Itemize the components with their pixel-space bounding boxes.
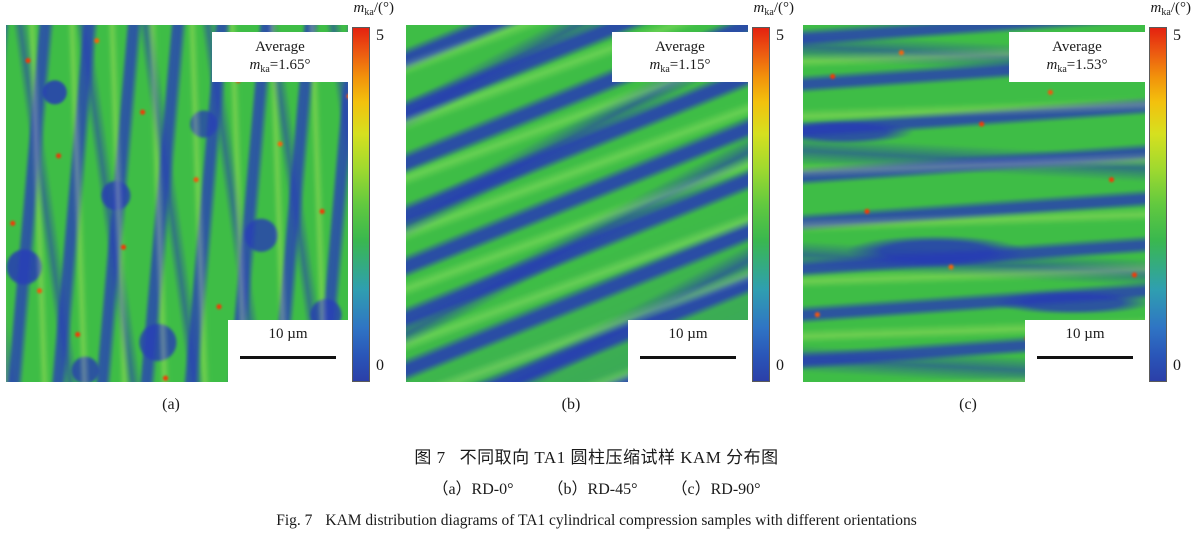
colorbar-title-symbol-c: m <box>1151 0 1162 16</box>
average-title-c: Average <box>1052 39 1102 57</box>
caption-english: Fig. 7KAM distribution diagrams of TA1 c… <box>0 512 1193 530</box>
colorbar-min-label-a: 0 <box>376 358 384 374</box>
scale-bar-box-c: 10 µm <box>1025 320 1145 382</box>
colorbar-max-label-b: 5 <box>776 28 784 44</box>
panel-a: mka/(°) Average mka=1.65° 10 µm 5 0 (a) <box>0 0 394 425</box>
scale-bar-label-b: 10 µm <box>628 326 748 343</box>
panel-label-c: (c) <box>797 396 1139 414</box>
colorbar-max-label-a: 5 <box>376 28 384 44</box>
caption-english-figno: Fig. 7 <box>276 512 312 529</box>
colorbar-title-c: mka/(°) <box>1151 0 1191 21</box>
scale-bar-line-a <box>240 356 336 359</box>
average-box-b: Average mka=1.15° <box>612 32 748 82</box>
scale-bar-box-b: 10 µm <box>628 320 748 382</box>
colorbar-title-symbol-b: m <box>754 0 765 16</box>
colorbar-title-symbol-a: m <box>354 0 365 16</box>
colorbar-title-sub-c: ka <box>1161 7 1170 18</box>
kam-map-c: Average mka=1.53° 10 µm <box>803 25 1145 382</box>
average-value-c: mka=1.53° <box>1046 57 1107 76</box>
caption-chinese-sub-c: （c）RD-90° <box>671 475 760 499</box>
colorbar-a <box>352 27 370 382</box>
scale-bar-line-b <box>640 356 736 359</box>
average-title-a: Average <box>255 39 305 57</box>
caption-chinese-figno: 图 7 <box>414 448 445 467</box>
colorbar-min-label-c: 0 <box>1173 358 1181 374</box>
average-title-b: Average <box>655 39 705 57</box>
scale-bar-line-c <box>1037 356 1133 359</box>
scale-bar-label-a: 10 µm <box>228 326 348 343</box>
caption-english-text: KAM distribution diagrams of TA1 cylindr… <box>325 512 916 529</box>
scale-bar-box-a: 10 µm <box>228 320 348 382</box>
average-box-c: Average mka=1.53° <box>1009 32 1145 82</box>
average-symbol-b: m <box>649 57 660 73</box>
colorbar-title-a: mka/(°) <box>354 0 394 21</box>
average-symbol-a: m <box>249 57 260 73</box>
average-value-a: mka=1.65° <box>249 57 310 76</box>
colorbar-b <box>752 27 770 382</box>
colorbar-title-sub-a: ka <box>364 7 373 18</box>
panel-b: mka/(°) Average mka=1.15° 10 µm 5 0 (b) <box>400 0 794 425</box>
colorbar-min-label-b: 0 <box>776 358 784 374</box>
colorbar-title-sub-b: ka <box>764 7 773 18</box>
kam-map-a: Average mka=1.65° 10 µm <box>6 25 348 382</box>
panel-label-b: (b) <box>400 396 742 414</box>
average-symbol-c: m <box>1046 57 1057 73</box>
kam-map-b: Average mka=1.15° 10 µm <box>406 25 748 382</box>
figure-kam-distribution: mka/(°) Average mka=1.65° 10 µm 5 0 (a) <box>0 0 1193 543</box>
average-value-b: mka=1.15° <box>649 57 710 76</box>
average-eq-b: =1.15° <box>670 57 711 73</box>
caption-chinese-subs: （a）RD-0°（b）RD-45°（c）RD-90° <box>0 475 1193 499</box>
colorbar-title-b: mka/(°) <box>754 0 794 21</box>
average-sub-b: ka <box>660 63 669 74</box>
average-eq-c: =1.53° <box>1067 57 1108 73</box>
colorbar-title-unit-b: /(°) <box>774 0 794 16</box>
caption-chinese-title: 图 7不同取向 TA1 圆柱压缩试样 KAM 分布图 <box>0 443 1193 468</box>
scale-bar-label-c: 10 µm <box>1025 326 1145 343</box>
colorbar-title-unit-c: /(°) <box>1171 0 1191 16</box>
caption-chinese-sub-a: （a）RD-0° <box>432 475 513 499</box>
caption-chinese-sub-b: （b）RD-45° <box>548 475 638 499</box>
average-box-a: Average mka=1.65° <box>212 32 348 82</box>
colorbar-max-label-c: 5 <box>1173 28 1181 44</box>
panel-label-a: (a) <box>0 396 342 414</box>
colorbar-title-unit-a: /(°) <box>374 0 394 16</box>
average-sub-a: ka <box>260 63 269 74</box>
panel-c: mka/(°) Average mka=1.53° 10 µm 5 0 (c) <box>797 0 1191 425</box>
colorbar-c <box>1149 27 1167 382</box>
average-sub-c: ka <box>1057 63 1066 74</box>
average-eq-a: =1.65° <box>270 57 311 73</box>
caption-chinese-text: 不同取向 TA1 圆柱压缩试样 KAM 分布图 <box>460 448 779 467</box>
